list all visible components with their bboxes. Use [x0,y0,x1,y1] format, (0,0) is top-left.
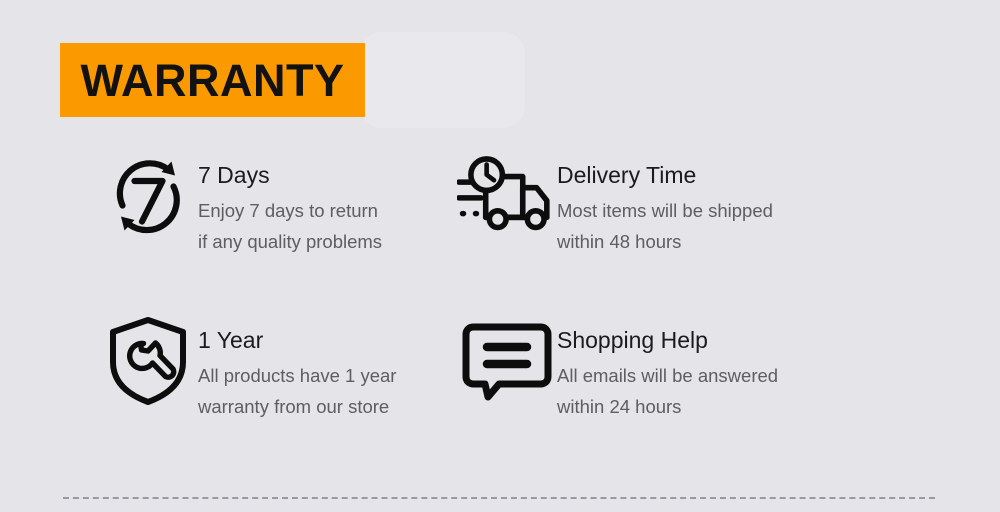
feature-item-1-year: 1 Year All products have 1 year warranty… [0,315,440,422]
feature-text-shopping-help: Shopping Help All emails will be answere… [557,315,778,422]
feature-title: 7 Days [198,162,382,188]
background-highlight-panel [360,32,525,128]
feature-description-line-2: if any quality problems [198,226,382,257]
feature-description-line-2: within 48 hours [557,226,773,257]
feature-description-line-2: within 24 hours [557,391,778,422]
page-title: WARRANTY [81,58,345,103]
bottom-dashed-divider [63,497,935,499]
feature-title: Delivery Time [557,162,773,188]
delivery-truck-clock-icon [457,150,557,242]
features-row-1: 7 Days Enjoy 7 days to return if any qua… [0,150,1000,257]
feature-item-delivery-time: Delivery Time Most items will be shipped… [440,150,1000,257]
feature-text-7-days: 7 Days Enjoy 7 days to return if any qua… [198,150,382,257]
feature-item-shopping-help: Shopping Help All emails will be answere… [440,315,1000,422]
feature-text-delivery-time: Delivery Time Most items will be shipped… [557,150,773,257]
features-grid: 7 Days Enjoy 7 days to return if any qua… [0,150,1000,422]
feature-title: Shopping Help [557,327,778,353]
feature-text-1-year: 1 Year All products have 1 year warranty… [198,315,396,422]
features-row-2: 1 Year All products have 1 year warranty… [0,315,1000,422]
warranty-title-banner: WARRANTY [60,43,365,117]
return-7-days-icon [98,150,198,242]
feature-description-line-1: Most items will be shipped [557,195,773,226]
feature-title: 1 Year [198,327,396,353]
shield-wrench-icon [98,315,198,407]
warranty-info-banner: WARRANTY 7 Days Enjoy 7 days to return [0,0,1000,512]
chat-bubble-icon [457,315,557,407]
feature-description-line-1: Enjoy 7 days to return [198,195,382,226]
feature-description-line-1: All emails will be answered [557,360,778,391]
feature-description-line-2: warranty from our store [198,391,396,422]
feature-description-line-1: All products have 1 year [198,360,396,391]
feature-item-7-days: 7 Days Enjoy 7 days to return if any qua… [0,150,440,257]
